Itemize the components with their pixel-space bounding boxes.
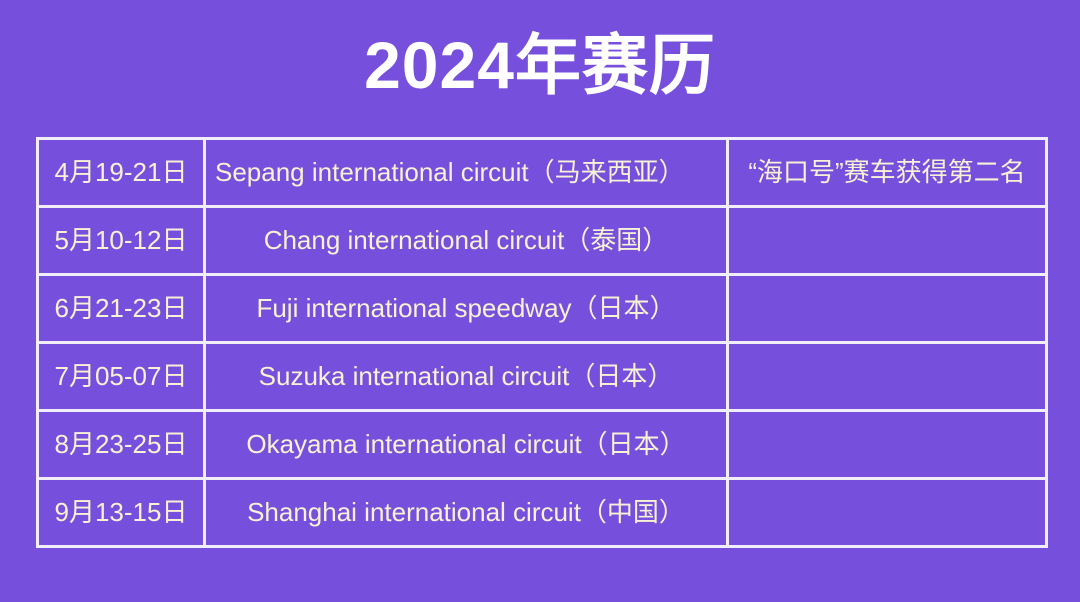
cell-note — [728, 411, 1047, 479]
table-row: 7月05-07日 Suzuka international circuit（日本… — [38, 343, 1047, 411]
cell-circuit: Sepang international circuit（马来西亚） — [205, 139, 728, 207]
cell-circuit: Fuji international speedway（日本） — [205, 275, 728, 343]
cell-date: 9月13-15日 — [38, 479, 205, 547]
cell-note — [728, 275, 1047, 343]
race-calendar-slide: 2024年赛历 4月19-21日 Sepang international ci… — [0, 0, 1080, 602]
cell-circuit: Shanghai international circuit（中国） — [205, 479, 728, 547]
table-row: 8月23-25日 Okayama international circuit（日… — [38, 411, 1047, 479]
table-row: 9月13-15日 Shanghai international circuit（… — [38, 479, 1047, 547]
cell-date: 5月10-12日 — [38, 207, 205, 275]
page-title: 2024年赛历 — [0, 28, 1080, 104]
cell-note: “海口号”赛车获得第二名 — [728, 139, 1047, 207]
table-row: 6月21-23日 Fuji international speedway（日本） — [38, 275, 1047, 343]
cell-note — [728, 479, 1047, 547]
table-body: 4月19-21日 Sepang international circuit（马来… — [38, 139, 1047, 547]
cell-circuit: Okayama international circuit（日本） — [205, 411, 728, 479]
cell-circuit: Suzuka international circuit（日本） — [205, 343, 728, 411]
cell-note — [728, 207, 1047, 275]
cell-circuit: Chang international circuit（泰国） — [205, 207, 728, 275]
table-row: 4月19-21日 Sepang international circuit（马来… — [38, 139, 1047, 207]
cell-date: 6月21-23日 — [38, 275, 205, 343]
cell-date: 8月23-25日 — [38, 411, 205, 479]
cell-date: 7月05-07日 — [38, 343, 205, 411]
race-calendar-table: 4月19-21日 Sepang international circuit（马来… — [36, 137, 1048, 548]
table-row: 5月10-12日 Chang international circuit（泰国） — [38, 207, 1047, 275]
cell-note — [728, 343, 1047, 411]
cell-date: 4月19-21日 — [38, 139, 205, 207]
